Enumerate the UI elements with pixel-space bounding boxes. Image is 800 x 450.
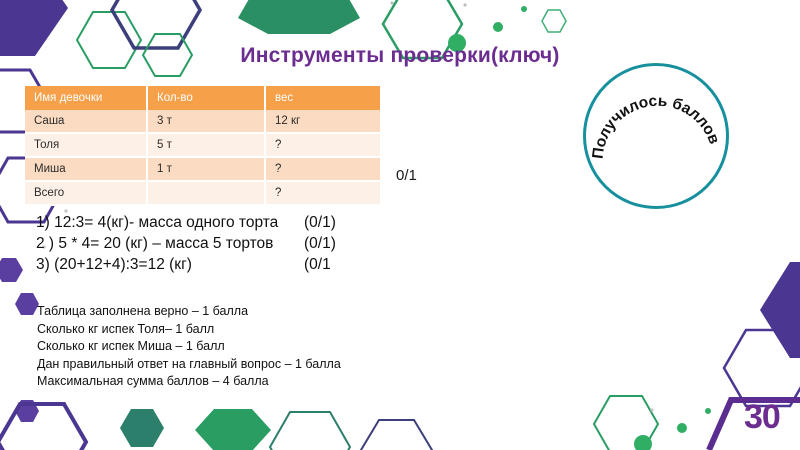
dot-green-bottom-large: [634, 435, 652, 450]
dot-green-small-top: [521, 6, 527, 12]
table-header-weight: вес: [265, 86, 380, 110]
hexagon-outline-green-bottomright: [594, 396, 658, 450]
hexagon-outline-green-bottom: [270, 412, 350, 450]
svg-text:Получилось баллов: Получилось баллов: [590, 93, 723, 160]
equation-row: 3) (20+12+4):3=12 (кг) (0/1: [36, 254, 486, 275]
criteria-item: Таблица заполнена верно – 1 балла: [37, 303, 467, 321]
hexagon-solid-green-topcenter: [238, 0, 360, 34]
equation-row: 1) 12:3= 4(кг)- масса одного торта (0/1): [36, 212, 486, 233]
cell-weight: 12 кг: [265, 110, 380, 133]
dot-gray-bottom-tiny: [650, 408, 653, 411]
table-row: Саша 3 т 12 кг: [25, 110, 380, 133]
score-circle-text: Получилось баллов: [583, 63, 729, 209]
equations-list: 1) 12:3= 4(кг)- масса одного торта (0/1)…: [36, 212, 486, 275]
equation-text: 3) (20+12+4):3=12 (кг): [36, 254, 304, 275]
hexagon-bullet-purple-criteria: [15, 293, 39, 315]
hexagon-bullet-purple-criteria-bottom: [15, 400, 39, 422]
hexagon-solid-green-bottom: [195, 409, 271, 450]
dot-green-bottom-medium: [677, 423, 687, 433]
results-table: Имя девочки Кол-во вес Саша 3 т 12 кг То…: [25, 86, 380, 206]
equation-score: (0/1: [304, 254, 331, 275]
equation-score: (0/1): [304, 212, 336, 233]
slide-canvas: Инструменты проверки(ключ) Имя девочки К…: [0, 0, 800, 450]
table-header-count: Кол-во: [147, 86, 265, 110]
table-row: Миша 1 т ?: [25, 157, 380, 181]
cell-count: 5 т: [147, 133, 265, 157]
score-circle-label: Получилось баллов: [590, 93, 723, 160]
dot-green-medium-top: [493, 22, 503, 32]
criteria-item: Сколько кг испек Толя– 1 балл: [37, 321, 467, 339]
hexagon-outline-purple-lowerright: [724, 330, 800, 406]
table-row: Толя 5 т ?: [25, 133, 380, 157]
hexagon-outline-green-tiny-topright: [542, 10, 566, 32]
hexagon-outline-purple-bottomleft: [0, 404, 86, 450]
cell-weight: ?: [265, 133, 380, 157]
equation-score: (0/1): [304, 233, 336, 254]
table-header-row: Имя девочки Кол-во вес: [25, 86, 380, 110]
cell-name: Всего: [25, 181, 147, 205]
cell-count: 1 т: [147, 157, 265, 181]
dot-gray-tiny-top2: [390, 1, 393, 4]
cell-weight: ?: [265, 181, 380, 205]
cell-name: Саша: [25, 110, 147, 133]
hexagon-solid-teal-bottom: [120, 409, 164, 447]
criteria-item: Максимальная сумма баллов – 4 балла: [37, 373, 467, 391]
equation-text: 2 ) 5 * 4= 20 (кг) – масса 5 тортов: [36, 233, 304, 254]
cell-name: Миша: [25, 157, 147, 181]
criteria-item: Сколько кг испек Миша – 1 балл: [37, 338, 467, 356]
score-circle: Получилось баллов: [583, 63, 729, 209]
hexagon-outline-indigo-bottom: [361, 420, 432, 450]
cell-count: [147, 181, 265, 205]
equation-text: 1) 12:3= 4(кг)- масса одного торта: [36, 212, 304, 233]
cell-weight: ?: [265, 157, 380, 181]
hexagon-outline-indigo-top: [112, 0, 200, 48]
cell-count: 3 т: [147, 110, 265, 133]
cell-name: Толя: [25, 133, 147, 157]
page-number: 30: [744, 398, 780, 437]
criteria-list: Таблица заполнена верно – 1 балла Скольк…: [37, 303, 467, 391]
table-header-name: Имя девочки: [25, 86, 147, 110]
equation-row: 2 ) 5 * 4= 20 (кг) – масса 5 тортов (0/1…: [36, 233, 486, 254]
dot-green-bottom-small: [705, 408, 711, 414]
hexagon-solid-purple-left-small: [0, 258, 23, 282]
table-score-label: 0/1: [396, 167, 417, 184]
table-row: Всего ?: [25, 181, 380, 205]
criteria-item: Дан правильный ответ на главный вопрос –…: [37, 356, 467, 374]
hexagon-solid-purple-right: [760, 262, 800, 358]
dot-gray-tiny-top: [463, 3, 466, 6]
